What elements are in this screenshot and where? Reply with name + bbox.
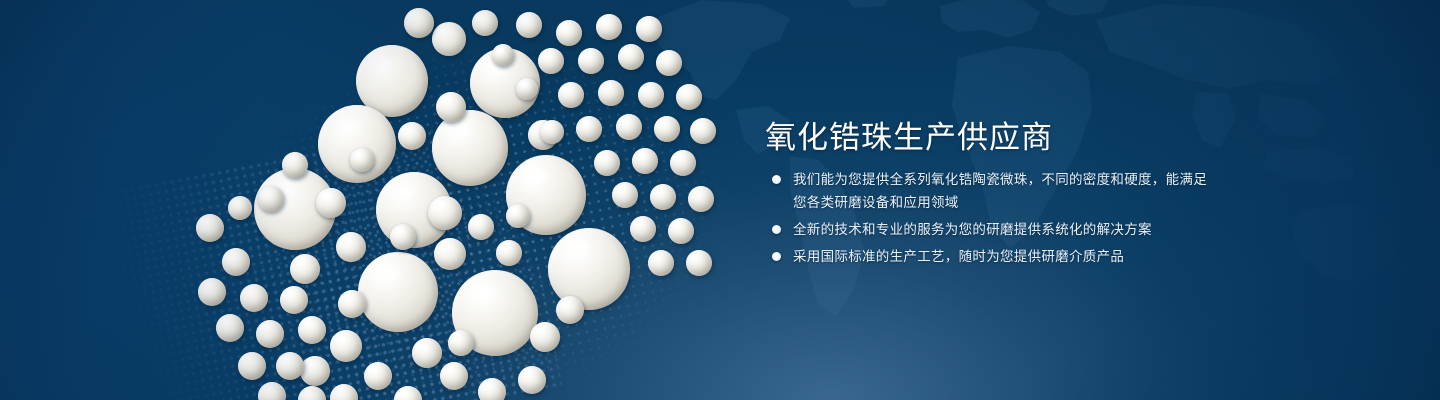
hero-banner: 氧化锆珠生产供应商 我们能为您提供全系列氧化锆陶瓷微珠，不同的密度和硬度，能满足…	[0, 0, 1440, 400]
bullet-dot-icon	[772, 175, 781, 184]
banner-content: 氧化锆珠生产供应商 我们能为您提供全系列氧化锆陶瓷微珠，不同的密度和硬度，能满足…	[765, 0, 1325, 400]
bullet-dot-icon	[772, 252, 781, 261]
list-item: 采用国际标准的生产工艺，随时为您提供研磨介质产品	[767, 245, 1217, 268]
bullet-dot-icon	[772, 225, 781, 234]
feature-list: 我们能为您提供全系列氧化锆陶瓷微珠，不同的密度和硬度，能满足您各类研磨设备和应用…	[767, 168, 1217, 272]
list-item: 我们能为您提供全系列氧化锆陶瓷微珠，不同的密度和硬度，能满足您各类研磨设备和应用…	[767, 168, 1217, 214]
list-item-label: 我们能为您提供全系列氧化锆陶瓷微珠，不同的密度和硬度，能满足您各类研磨设备和应用…	[793, 172, 1207, 210]
page-title: 氧化锆珠生产供应商	[765, 112, 1053, 157]
list-item-label: 全新的技术和专业的服务为您的研磨提供系统化的解决方案	[793, 222, 1152, 237]
list-item: 全新的技术和专业的服务为您的研磨提供系统化的解决方案	[767, 218, 1217, 241]
list-item-label: 采用国际标准的生产工艺，随时为您提供研磨介质产品	[793, 249, 1124, 264]
